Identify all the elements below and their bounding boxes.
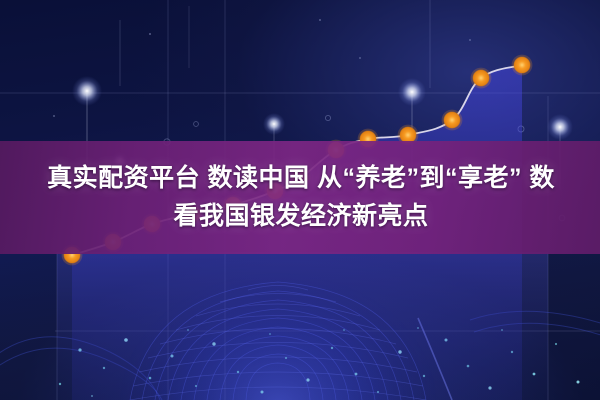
headline-line-1: 真实配资平台 数读中国 从“养老”到“享老” 数: [45, 161, 555, 197]
banner-image: 真实配资平台 数读中国 从“养老”到“享老” 数 看我国银发经济新亮点: [0, 0, 600, 400]
headline-block: 真实配资平台 数读中国 从“养老”到“享老” 数 看我国银发经济新亮点: [0, 141, 600, 254]
headline-line-2: 看我国银发经济新亮点: [171, 199, 428, 235]
